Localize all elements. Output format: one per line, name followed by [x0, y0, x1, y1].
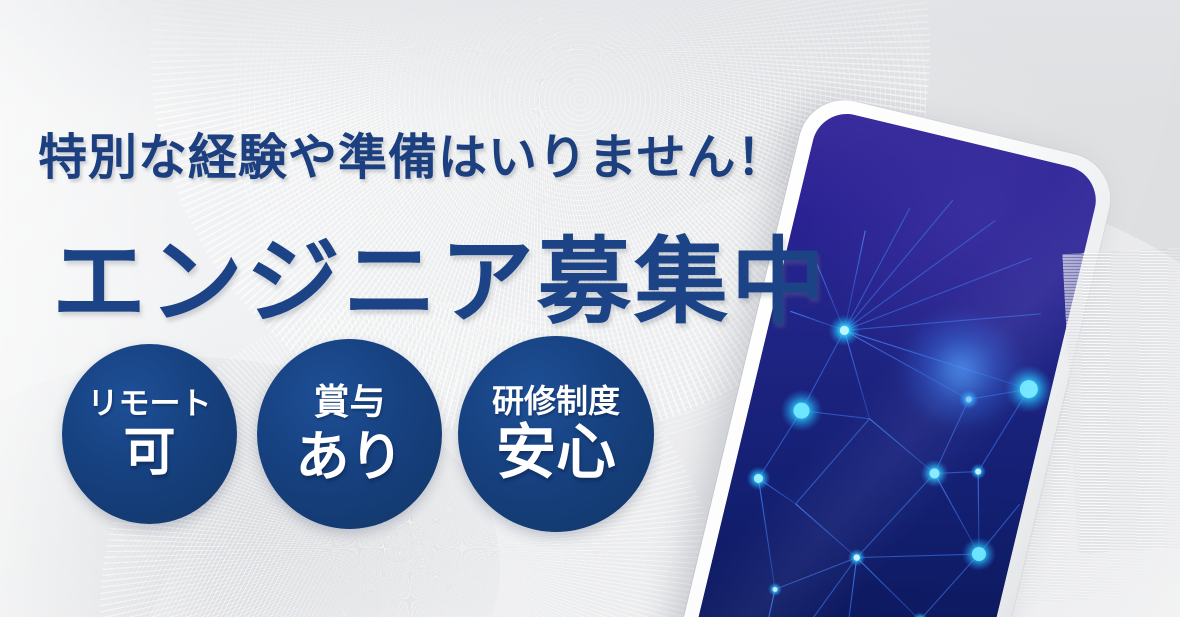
badge-remote-bottom-label: 可 — [123, 427, 175, 479]
badge-training-bottom-label: 安心 — [496, 423, 616, 483]
badge-bonus-bottom-label: あり — [296, 430, 404, 484]
banner-main-title: エンジニア募集中 — [52, 206, 828, 342]
badge-bonus: 賞与 あり — [257, 339, 442, 529]
recruitment-banner: 特別な経験や準備はいりません！ エンジニア募集中 リモート 可 賞与 あり 研修… — [0, 0, 1180, 617]
badge-training: 研修制度 安心 — [458, 336, 654, 532]
badge-group: リモート 可 賞与 あり 研修制度 安心 — [62, 344, 654, 532]
badge-bonus-top-label: 賞与 — [313, 385, 385, 421]
banner-subheadline: 特別な経験や準備はいりません！ — [38, 118, 787, 189]
badge-remote: リモート 可 — [62, 344, 237, 524]
badge-remote-top-label: リモート — [88, 389, 212, 420]
badge-training-top-label: 研修制度 — [492, 385, 620, 417]
